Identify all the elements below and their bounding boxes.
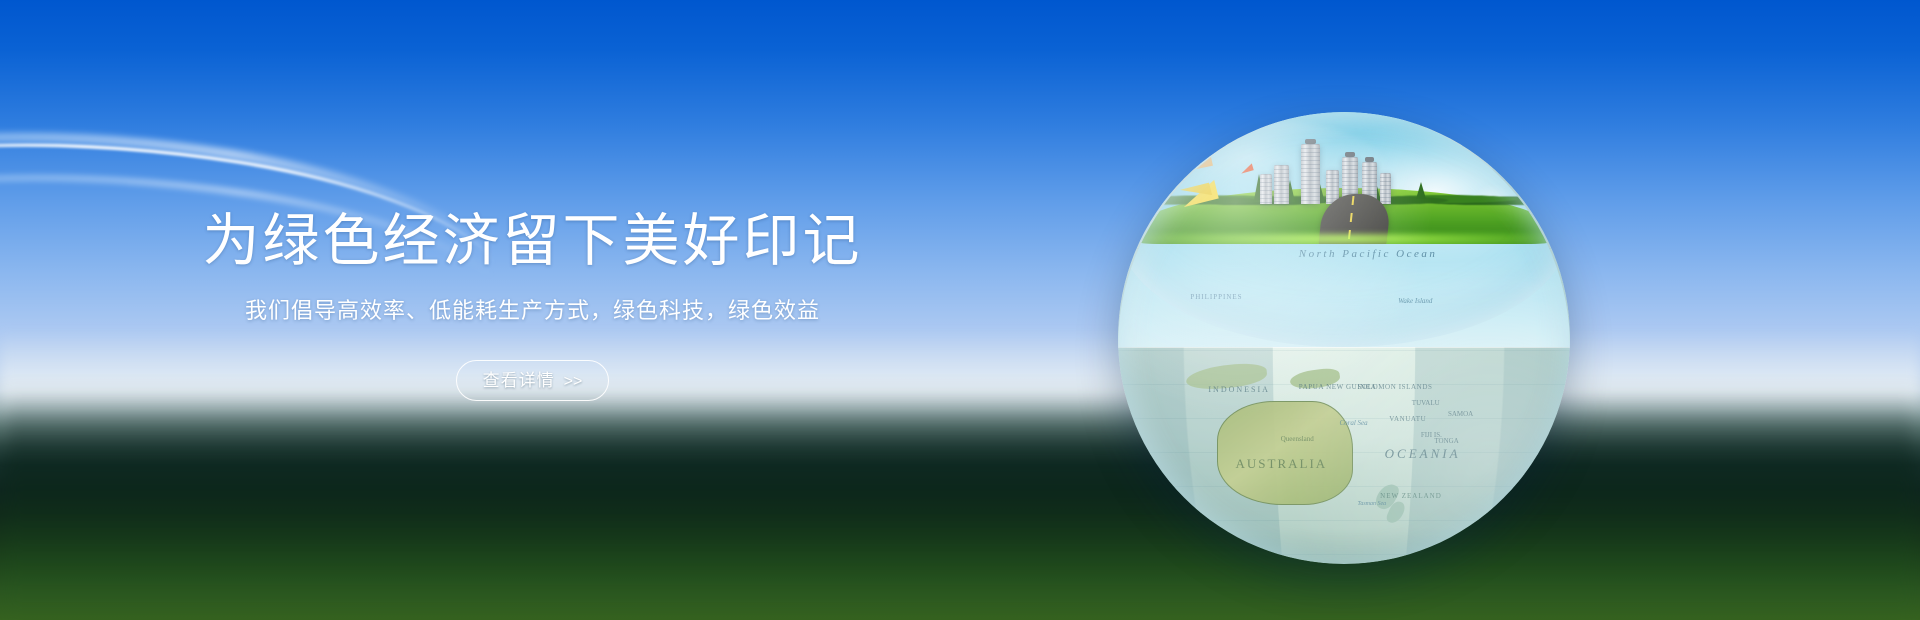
- hero-subheadline: 我们倡导高效率、低能耗生产方式，绿色科技，绿色效益: [0, 298, 1065, 324]
- equator-line: [1118, 347, 1570, 348]
- paper-plane-icon: [1189, 155, 1213, 170]
- globe-sphere: North Pacific Ocean OCEANIA AUSTRALIA NE…: [1118, 112, 1570, 564]
- hero-text-block: 为绿色经济留下美好印记 我们倡导高效率、低能耗生产方式，绿色科技，绿色效益 查看…: [0, 212, 1065, 401]
- globe-illustration: North Pacific Ocean OCEANIA AUSTRALIA NE…: [1118, 112, 1570, 564]
- view-details-label: 查看详情: [483, 371, 555, 390]
- hill-edge-glow: [1136, 234, 1552, 244]
- globe-glass-dome: [1118, 112, 1570, 347]
- eco-city-scene: [1118, 112, 1570, 244]
- hero-banner: North Pacific Ocean OCEANIA AUSTRALIA NE…: [0, 0, 1920, 620]
- conifer-tree: [1416, 182, 1426, 199]
- skyscraper: [1260, 174, 1272, 204]
- view-details-button[interactable]: 查看详情>>: [456, 360, 610, 401]
- chevron-right-icon: >>: [564, 373, 583, 390]
- skyscraper: [1301, 144, 1320, 205]
- ground-blur: [0, 390, 1920, 620]
- skyscraper: [1274, 165, 1289, 204]
- paper-plane-icon: [1239, 163, 1253, 173]
- hero-headline: 为绿色经济留下美好印记: [0, 212, 1065, 272]
- skyscraper: [1380, 173, 1391, 205]
- cta-wrapper: 查看详情>>: [0, 360, 1065, 401]
